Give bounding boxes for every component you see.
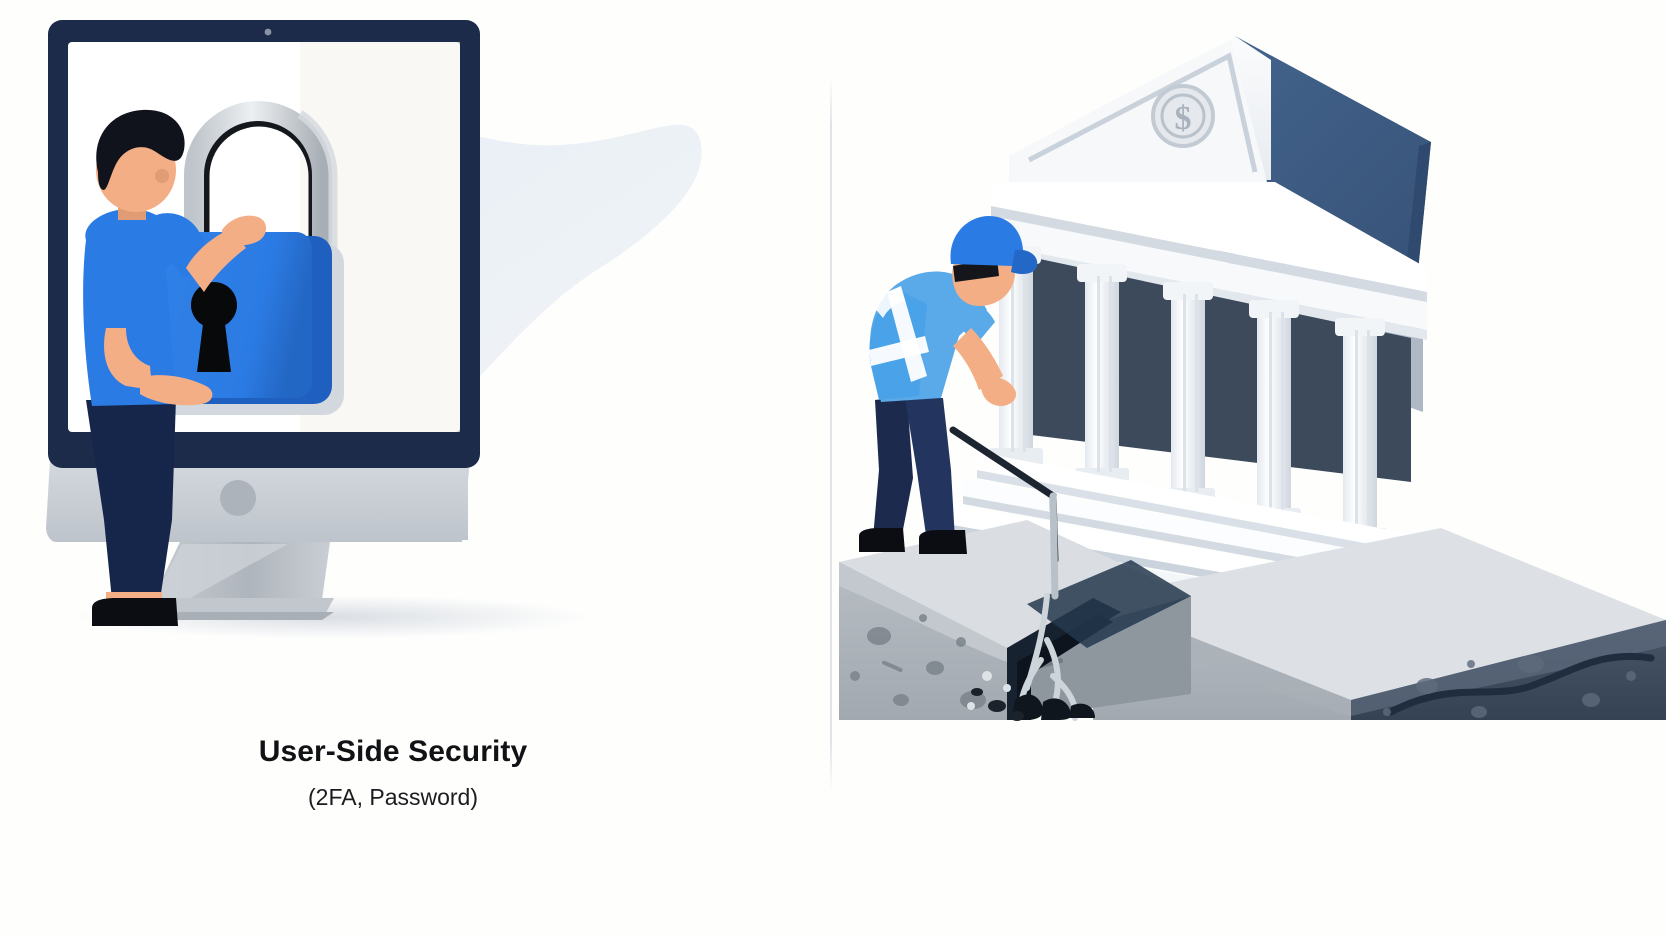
webcam-dot — [265, 29, 272, 36]
monitor-logo-dot — [220, 480, 256, 516]
caption-user-side: User-Side Security (2FA, Password) — [93, 735, 693, 811]
person-shoe-front — [118, 598, 178, 626]
worker-leg-front — [905, 398, 955, 542]
probe-rod-tip — [1053, 496, 1055, 596]
worker-boot-front — [919, 530, 967, 554]
illustration-canvas: User-Side Security (2FA, Password) — [0, 0, 1666, 937]
panel-divider — [830, 76, 832, 792]
svg-text:$: $ — [1175, 100, 1192, 137]
worker-leg-back — [873, 396, 913, 540]
worker-boot-back — [859, 528, 905, 552]
person-ear — [155, 169, 169, 183]
user-side-subtitle: (2FA, Password) — [93, 784, 693, 811]
dollar-coin-emblem: $ — [1153, 86, 1213, 146]
panel-user-side: User-Side Security (2FA, Password) — [0, 0, 831, 937]
user-side-illustration — [0, 0, 831, 720]
user-side-title: User-Side Security — [93, 735, 693, 769]
platform-side-illustration: $ — [831, 0, 1666, 720]
panel-platform-side: $ — [831, 0, 1666, 937]
